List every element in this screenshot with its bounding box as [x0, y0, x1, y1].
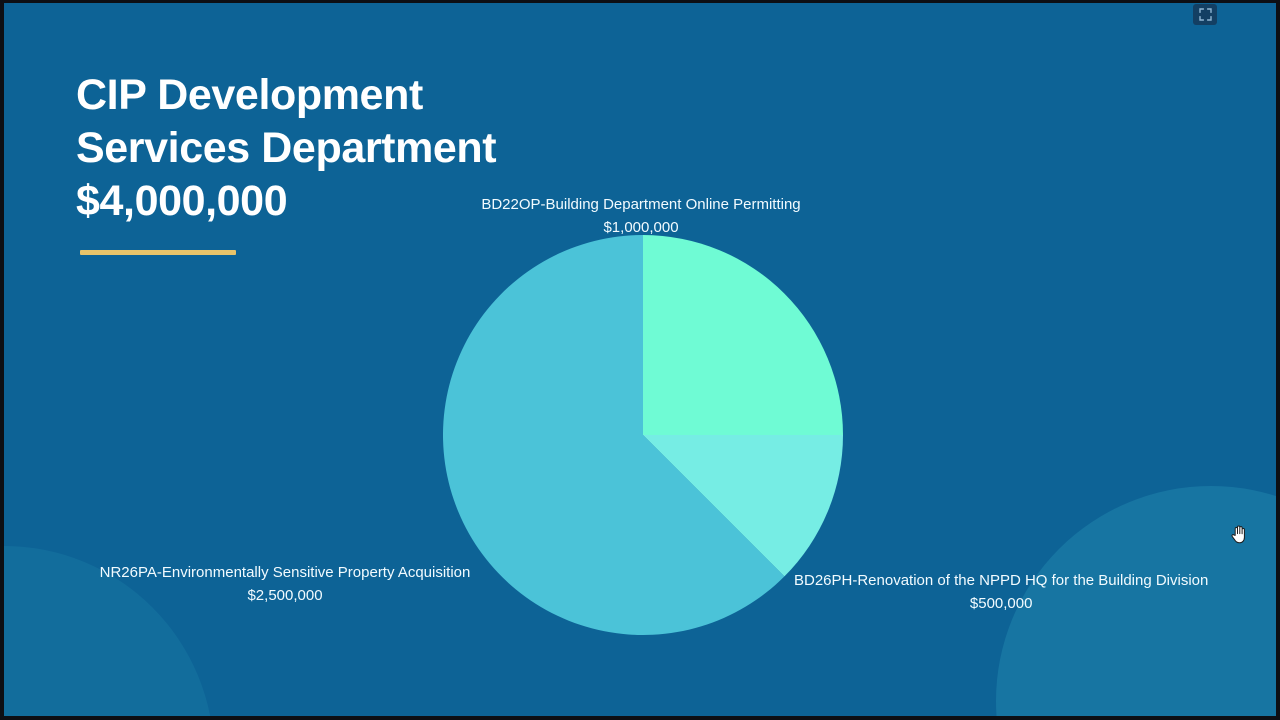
slide-canvas[interactable]: CIP Development Services Department $4,0…	[4, 3, 1276, 716]
pie-chart-svg	[443, 235, 843, 635]
title-accent-underline	[80, 250, 236, 255]
fullscreen-icon	[1199, 8, 1212, 21]
slice-label-bd26ph-amount: $500,000	[794, 592, 1208, 615]
pie-chart[interactable]	[443, 235, 843, 635]
fullscreen-button[interactable]	[1193, 4, 1217, 25]
pie-slice[interactable]	[643, 235, 843, 435]
presentation-viewer: CIP Development Services Department $4,0…	[0, 0, 1280, 720]
slice-label-nr26pa: NR26PA-Environmentally Sensitive Propert…	[100, 561, 471, 607]
slice-label-bd22op: BD22OP-Building Department Online Permit…	[481, 193, 800, 239]
slice-label-bd26ph-name: BD26PH-Renovation of the NPPD HQ for the…	[794, 572, 1208, 589]
slice-label-nr26pa-name: NR26PA-Environmentally Sensitive Propert…	[100, 564, 471, 581]
slice-label-bd22op-amount: $1,000,000	[481, 216, 800, 239]
title-line-1: CIP Development	[76, 69, 716, 122]
slice-label-bd26ph: BD26PH-Renovation of the NPPD HQ for the…	[794, 569, 1208, 615]
slice-label-bd22op-name: BD22OP-Building Department Online Permit…	[481, 196, 800, 213]
slice-label-nr26pa-amount: $2,500,000	[100, 584, 471, 607]
title-line-2: Services Department	[76, 122, 716, 175]
